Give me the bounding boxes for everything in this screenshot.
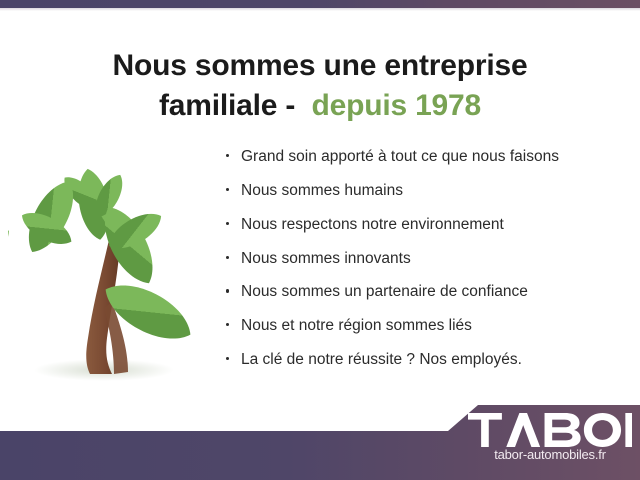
title-line-2: familiale - depuis 1978	[0, 86, 640, 126]
bullet-dot-icon	[226, 256, 229, 259]
bullet-dot-icon	[226, 323, 229, 326]
slide-canvas: Nous sommes une entreprise familiale - d…	[0, 0, 640, 480]
list-item: Nous et notre région sommes liés	[224, 317, 624, 334]
footer-bar	[0, 400, 640, 480]
page-title: Nous sommes une entreprise familiale - d…	[0, 46, 640, 126]
footer-shape	[0, 405, 640, 480]
bullet-dot-icon	[226, 289, 229, 292]
list-item-label: Nous et notre région sommes liés	[241, 317, 472, 334]
list-item-label: La clé de notre réussite ? Nos employés.	[241, 351, 522, 368]
title-dash: -	[285, 89, 295, 122]
top-accent-strip-shadow	[0, 8, 640, 11]
list-item: Nous respectons notre environnement	[224, 216, 624, 233]
title-line-2-prefix: familiale	[159, 89, 277, 122]
bullet-dot-icon	[226, 188, 229, 191]
bullet-dot-icon	[226, 357, 229, 360]
bullet-dot-icon	[226, 154, 229, 157]
top-accent-strip	[0, 0, 640, 8]
list-item-label: Nous sommes humains	[241, 182, 403, 199]
list-item-label: Nous sommes innovants	[241, 250, 411, 267]
list-item: Nous sommes un partenaire de confiance	[224, 283, 624, 300]
title-line-1: Nous sommes une entreprise	[0, 46, 640, 86]
list-item-label: Nous sommes un partenaire de confiance	[241, 283, 528, 300]
list-item: Nous sommes innovants	[224, 250, 624, 267]
list-item: Nous sommes humains	[224, 182, 624, 199]
list-item: Grand soin apporté à tout ce que nous fa…	[224, 148, 624, 165]
tree-illustration	[8, 152, 220, 390]
bullet-dot-icon	[226, 222, 229, 225]
title-accent-year: depuis 1978	[311, 89, 481, 122]
list-item-label: Nous respectons notre environnement	[241, 216, 504, 233]
list-item-label: Grand soin apporté à tout ce que nous fa…	[241, 148, 559, 165]
benefits-list: Grand soin apporté à tout ce que nous fa…	[224, 148, 624, 369]
list-item: La clé de notre réussite ? Nos employés.	[224, 351, 624, 368]
